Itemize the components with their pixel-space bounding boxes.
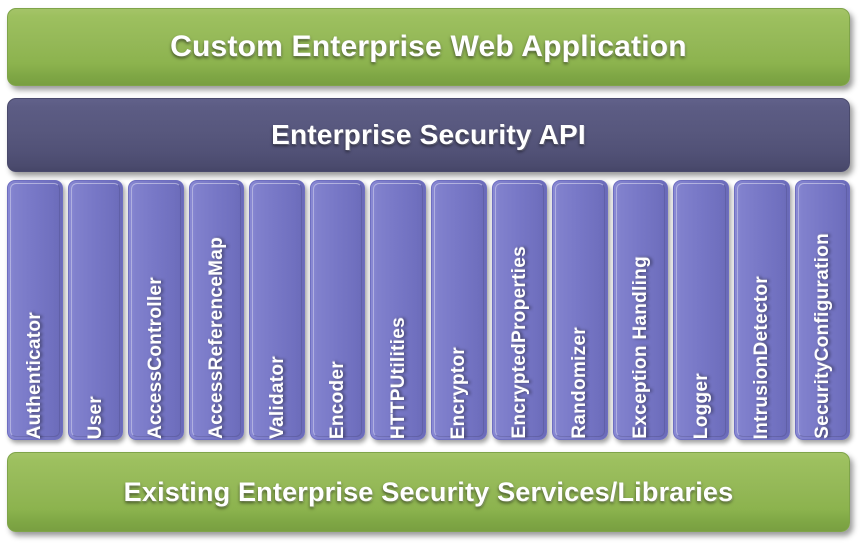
component-label: Randomizer — [570, 315, 589, 439]
component-encryptedproperties: EncryptedProperties — [492, 180, 548, 440]
component-securityconfiguration: SecurityConfiguration — [795, 180, 851, 440]
component-httputilities: HTTPUtilities — [370, 180, 426, 440]
component-authenticator: Authenticator — [7, 180, 63, 440]
application-layer-label: Custom Enterprise Web Application — [170, 30, 687, 64]
component-encryptor: Encryptor — [431, 180, 487, 440]
services-layer-label: Existing Enterprise Security Services/Li… — [124, 477, 734, 508]
layer-enterprise-security-api: Enterprise Security API — [7, 98, 850, 172]
api-layer-label: Enterprise Security API — [271, 119, 586, 151]
component-label: Authenticator — [25, 300, 44, 439]
component-label: HTTPUtilities — [389, 305, 408, 439]
component-intrusiondetector: IntrusionDetector — [734, 180, 790, 440]
layer-custom-enterprise-web-application: Custom Enterprise Web Application — [7, 8, 850, 86]
component-accesscontroller: AccessController — [128, 180, 184, 440]
component-label: Encryptor — [449, 335, 468, 439]
component-label: User — [86, 384, 105, 439]
component-label: Exception Handling — [631, 244, 650, 439]
esapi-architecture-diagram: Custom Enterprise Web Application Enterp… — [0, 0, 860, 546]
component-randomizer: Randomizer — [552, 180, 608, 440]
component-label: EncryptedProperties — [510, 234, 529, 439]
component-label: AccessReferenceMap — [207, 225, 226, 439]
component-label: IntrusionDetector — [752, 264, 771, 439]
component-exception-handling: Exception Handling — [613, 180, 669, 440]
component-logger: Logger — [673, 180, 729, 440]
component-accessreferencemap: AccessReferenceMap — [189, 180, 245, 440]
component-label: Validator — [268, 344, 287, 439]
component-user: User — [68, 180, 124, 440]
esapi-component-row: Authenticator User AccessController Acce… — [7, 180, 850, 440]
component-validator: Validator — [249, 180, 305, 440]
component-label: SecurityConfiguration — [813, 221, 832, 439]
component-label: Encoder — [328, 349, 347, 439]
component-encoder: Encoder — [310, 180, 366, 440]
layer-existing-enterprise-security-services: Existing Enterprise Security Services/Li… — [7, 452, 850, 532]
component-label: AccessController — [146, 265, 165, 439]
component-label: Logger — [692, 361, 711, 439]
